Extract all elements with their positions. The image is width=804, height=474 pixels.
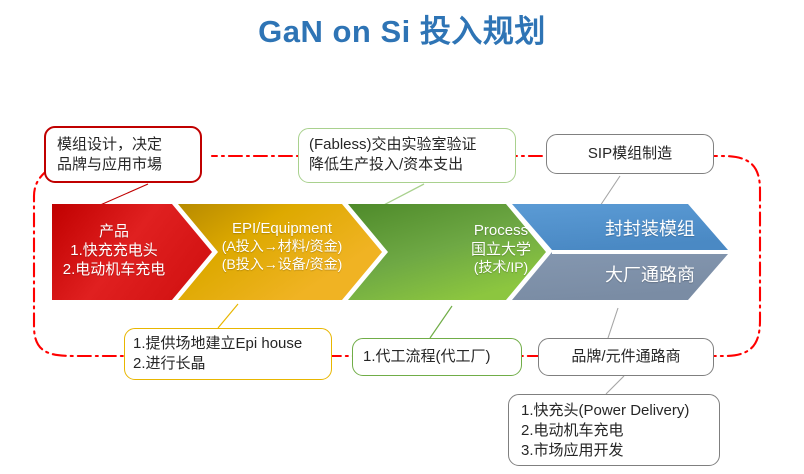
callout-epi-house-line-1: 1.提供场地建立Epi house — [133, 334, 322, 354]
callout-brand-channel-line-1: 品牌/元件通路商 — [548, 347, 704, 367]
chevron-line-epi-1: (A投入→材料/资金) — [196, 238, 368, 256]
chevron-label-channel: 大厂通路商 — [584, 264, 716, 287]
chevron-heading-process: Process — [440, 221, 562, 240]
callout-fabless-line-2: 降低生产投入/资本支出 — [309, 155, 506, 175]
callout-brand-design[interactable]: 模组设计，决定 品牌与应用市場 — [44, 126, 202, 183]
callout-applications[interactable]: 1.快充头(Power Delivery) 2.电动机车充电 3.市场应用开发 — [508, 394, 720, 466]
callout-applications-line-3: 3.市场应用开发 — [521, 441, 710, 461]
chevron-heading-product: 产品 — [44, 222, 184, 241]
chevron-label-product: 产品 1.快充充电头 2.电动机车充电 — [44, 222, 184, 280]
chevron-label-epi-equipment: EPI/Equipment (A投入→材料/资金) (B投入→设备/资金) — [196, 219, 368, 274]
callout-applications-line-2: 2.电动机车充电 — [521, 421, 710, 441]
callout-brand-design-line-1: 模组设计，决定 — [57, 135, 191, 155]
slide-canvas: GaN on Si 投入规划 — [0, 0, 804, 474]
callout-foundry[interactable]: 1.代工流程(代工厂) — [352, 338, 522, 376]
callout-brand-design-line-2: 品牌与应用市場 — [57, 155, 191, 175]
chevron-line-process-2: (技术/IP) — [440, 259, 562, 277]
callout-fabless[interactable]: (Fabless)交由实验室验证 降低生产投入/资本支出 — [298, 128, 516, 183]
callout-fabless-line-1: (Fabless)交由实验室验证 — [309, 135, 506, 155]
callout-epi-house-line-2: 2.进行长晶 — [133, 354, 322, 374]
callout-applications-line-1: 1.快充头(Power Delivery) — [521, 401, 710, 421]
chevron-label-packaging: 封封装模组 — [584, 218, 716, 241]
callout-sip[interactable]: SIP模组制造 — [546, 134, 714, 174]
chevron-line-product-2: 2.电动机车充电 — [44, 260, 184, 279]
callout-brand-channel[interactable]: 品牌/元件通路商 — [538, 338, 714, 376]
callout-foundry-line-1: 1.代工流程(代工厂) — [363, 347, 512, 367]
chevron-heading-epi: EPI/Equipment — [196, 219, 368, 238]
chevron-line-epi-2: (B投入→设备/资金) — [196, 256, 368, 274]
chevron-line-product-1: 1.快充充电头 — [44, 241, 184, 260]
chevron-label-process: Process 国立大学 (技术/IP) — [440, 221, 562, 277]
chevron-line-process-1: 国立大学 — [440, 240, 562, 259]
callout-sip-line-1: SIP模组制造 — [556, 144, 704, 164]
callout-epi-house[interactable]: 1.提供场地建立Epi house 2.进行长晶 — [124, 328, 332, 380]
